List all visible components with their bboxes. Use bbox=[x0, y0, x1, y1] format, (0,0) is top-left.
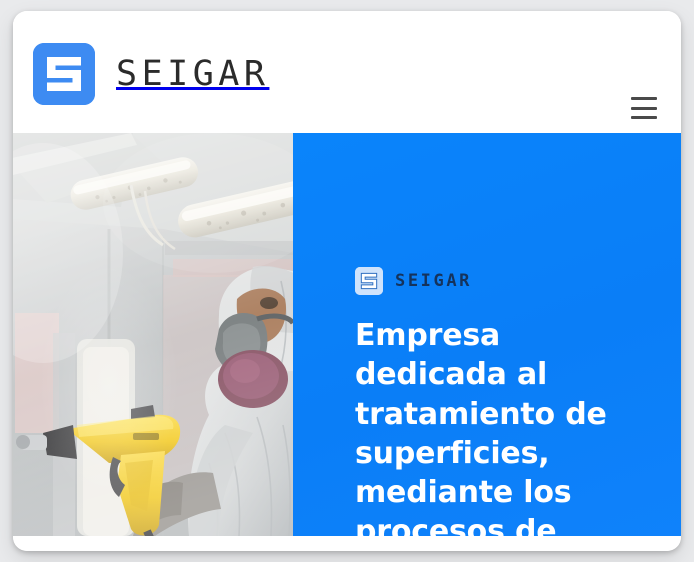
hero-section: SEIGAR Empresa dedicada al tratamiento d… bbox=[13, 133, 681, 536]
hero-content: SEIGAR Empresa dedicada al tratamiento d… bbox=[355, 267, 671, 536]
seigar-s-logo-icon bbox=[355, 267, 383, 295]
hero-brand-lockup: SEIGAR bbox=[355, 267, 671, 295]
page-bottom-strip bbox=[13, 536, 681, 551]
seigar-s-logo-icon bbox=[33, 43, 95, 105]
browser-viewport: SEIGAR bbox=[13, 11, 681, 551]
hero-text-panel: SEIGAR Empresa dedicada al tratamiento d… bbox=[293, 133, 681, 536]
brand-logo-link[interactable]: SEIGAR bbox=[33, 43, 269, 105]
menu-bar-middle bbox=[631, 107, 657, 110]
hero-brand-wordmark: SEIGAR bbox=[395, 273, 472, 290]
menu-bar-bottom bbox=[631, 116, 657, 119]
site-header: SEIGAR bbox=[13, 11, 681, 132]
menu-bar-top bbox=[631, 97, 657, 100]
brand-wordmark: SEIGAR bbox=[116, 57, 269, 92]
hamburger-menu-icon[interactable] bbox=[631, 97, 657, 119]
hero-headline: Empresa dedicada al tratamiento de super… bbox=[355, 316, 655, 536]
hero-photo bbox=[13, 133, 293, 536]
